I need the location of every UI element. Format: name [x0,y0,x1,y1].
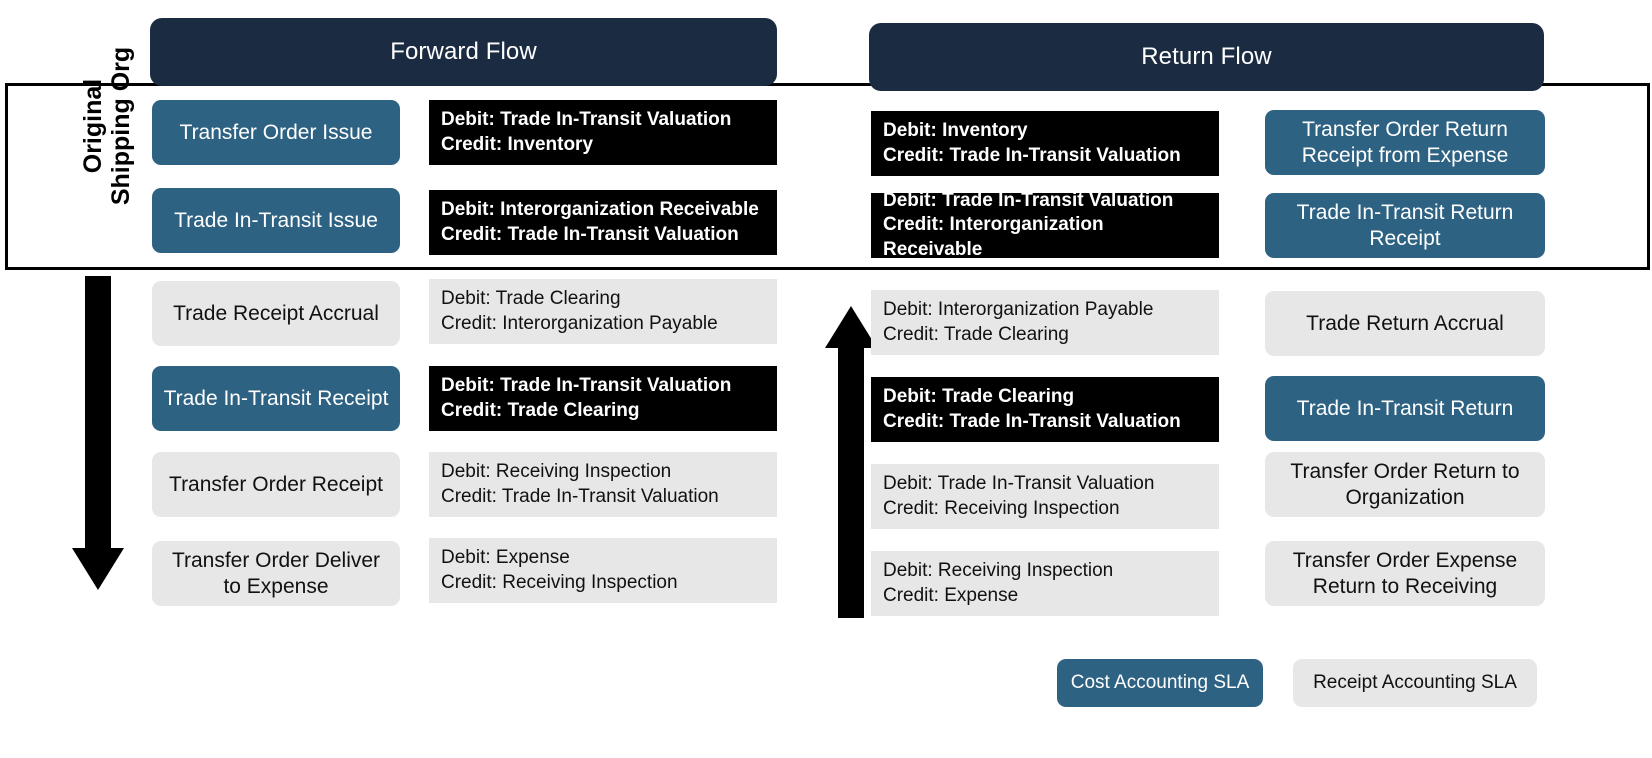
forward-entry-transfer-order-receipt: Debit: Receiving Inspection Credit: Trad… [429,452,777,517]
forward-event-trade-in-transit-receipt[interactable]: Trade In-Transit Receipt [152,366,400,431]
forward-entry-trade-in-transit-issue: Debit: Interorganization Receivable Cred… [429,190,777,255]
return-entry-transfer-order-return-receipt-from-expense: Debit: Inventory Credit: Trade In-Transi… [871,111,1219,176]
forward-entry-trade-receipt-accrual: Debit: Trade Clearing Credit: Interorgan… [429,279,777,344]
return-entry-trade-in-transit-return: Debit: Trade Clearing Credit: Trade In-T… [871,377,1219,442]
return-event-transfer-order-expense-return-to-receiving[interactable]: Transfer Order Expense Return to Receivi… [1265,541,1545,606]
forward-event-transfer-order-receipt[interactable]: Transfer Order Receipt [152,452,400,517]
return-flow-header: Return Flow [869,23,1544,91]
diagram-canvas: Forward Flow Return Flow Original Shippi… [0,0,1652,758]
forward-entry-transfer-order-deliver-to-expense: Debit: Expense Credit: Receiving Inspect… [429,538,777,603]
original-shipping-org-label: Original Shipping Org [67,35,147,217]
forward-entry-transfer-order-issue: Debit: Trade In-Transit Valuation Credit… [429,100,777,165]
forward-flow-header: Forward Flow [150,18,777,86]
return-event-transfer-order-return-receipt-from-expense[interactable]: Transfer Order Return Receipt from Expen… [1265,110,1545,175]
return-event-transfer-order-return-to-organization[interactable]: Transfer Order Return to Organization [1265,452,1545,517]
forward-event-trade-in-transit-issue[interactable]: Trade In-Transit Issue [152,188,400,253]
down-arrow [70,276,126,592]
forward-event-transfer-order-issue[interactable]: Transfer Order Issue [152,100,400,165]
legend-cost-accounting-sla: Cost Accounting SLA [1057,659,1263,707]
forward-event-trade-receipt-accrual[interactable]: Trade Receipt Accrual [152,281,400,346]
legend-receipt-accounting-sla: Receipt Accounting SLA [1293,659,1537,707]
return-event-trade-in-transit-return-receipt[interactable]: Trade In-Transit Return Receipt [1265,193,1545,258]
return-event-trade-in-transit-return[interactable]: Trade In-Transit Return [1265,376,1545,441]
forward-entry-trade-in-transit-receipt: Debit: Trade In-Transit Valuation Credit… [429,366,777,431]
return-event-trade-return-accrual[interactable]: Trade Return Accrual [1265,291,1545,356]
return-entry-transfer-order-expense-return-to-receiving: Debit: Receiving Inspection Credit: Expe… [871,551,1219,616]
return-entry-transfer-order-return-to-organization: Debit: Trade In-Transit Valuation Credit… [871,464,1219,529]
return-entry-trade-return-accrual: Debit: Interorganization Payable Credit:… [871,290,1219,355]
return-entry-trade-in-transit-return-receipt: Debit: Trade In-Transit Valuation Credit… [871,193,1219,258]
forward-event-transfer-order-deliver-to-expense[interactable]: Transfer Order Deliver to Expense [152,541,400,606]
